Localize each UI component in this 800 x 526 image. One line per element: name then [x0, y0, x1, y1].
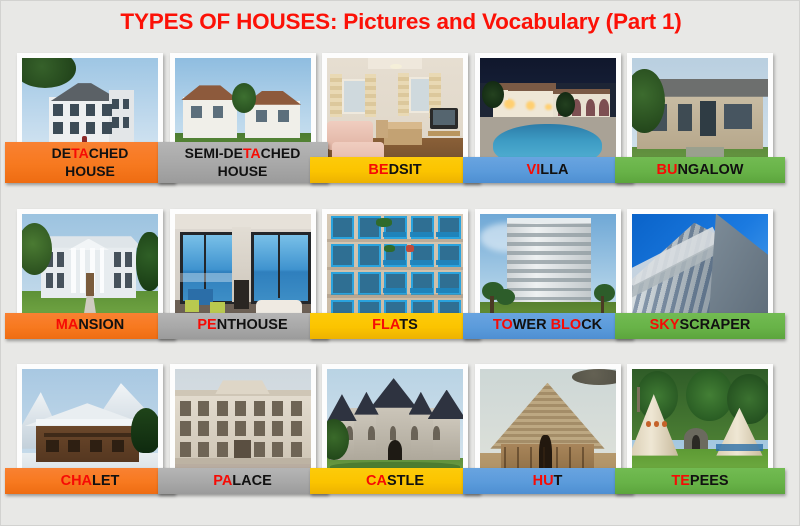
photo-bungalow [632, 58, 768, 172]
photo-villa [480, 58, 616, 172]
photo-chalet [22, 369, 158, 483]
highlight-semi-detached-house: TA [243, 145, 261, 161]
page-title: TYPES OF HOUSES: Pictures and Vocabulary… [1, 9, 800, 35]
highlight2-tower-block: BLO [551, 317, 582, 333]
highlight-flats: FLA [372, 317, 399, 333]
label-villa: VILLA [463, 157, 633, 183]
highlight-castle: CA [366, 473, 387, 489]
card-tepees: TEPEES [627, 364, 773, 488]
highlight-tepees: TE [671, 473, 690, 489]
label-tepees: TEPEES [615, 468, 785, 494]
card-tower-block: TOWER BLOCK [475, 209, 621, 333]
label-hut: HUT [463, 468, 633, 494]
label-bungalow: BUNGALOW [615, 157, 785, 183]
photo-castle [327, 369, 463, 483]
label-flats: FLATS [310, 313, 480, 339]
label-palace: PALACE [158, 468, 328, 494]
highlight-chalet: CHA [61, 473, 92, 489]
photo-tower-block [480, 214, 616, 328]
label-penthouse: PENTHOUSE [158, 313, 328, 339]
photo-hut [480, 369, 616, 483]
photo-tepees [632, 369, 768, 483]
photo-flats [327, 214, 463, 328]
card-palace: PALACE [170, 364, 316, 488]
photo-bedsit [327, 58, 463, 172]
label-bedsit: BEDSIT [310, 157, 480, 183]
label-chalet: CHALET [5, 468, 175, 494]
highlight-bedsit: BE [368, 162, 388, 178]
card-penthouse: PENTHOUSE [170, 209, 316, 333]
photo-penthouse [175, 214, 311, 328]
label-semi-detached-house: SEMI-DETACHEDHOUSE [158, 142, 328, 183]
label-detached-house: DETACHEDHOUSE [5, 142, 175, 183]
label-castle: CASTLE [310, 468, 480, 494]
house-types-grid: DETACHEDHOUSESEMI-DETACHEDHOUSEBEDSITVIL… [17, 53, 785, 519]
highlight-skyscraper: SKY [650, 317, 680, 333]
highlight-detached-house: TA [71, 145, 89, 161]
photo-mansion [22, 214, 158, 328]
highlight-mansion: MA [56, 317, 79, 333]
card-mansion: MANSION [17, 209, 163, 333]
card-villa: VILLA [475, 53, 621, 177]
card-hut: HUT [475, 364, 621, 488]
poster-page: TYPES OF HOUSES: Pictures and Vocabulary… [0, 0, 800, 526]
card-chalet: CHALET [17, 364, 163, 488]
card-skyscraper: SKYSCRAPER [627, 209, 773, 333]
card-semi-detached-house: SEMI-DETACHEDHOUSE [170, 53, 316, 177]
highlight-tower-block: TO [493, 317, 513, 333]
photo-skyscraper [632, 214, 768, 328]
label-skyscraper: SKYSCRAPER [615, 313, 785, 339]
card-bedsit: BEDSIT [322, 53, 468, 177]
highlight-hut: HU [533, 473, 554, 489]
card-detached-house: DETACHEDHOUSE [17, 53, 163, 177]
card-bungalow: BUNGALOW [627, 53, 773, 177]
label-mansion: MANSION [5, 313, 175, 339]
label-tower-block: TOWER BLOCK [463, 313, 633, 339]
highlight-bungalow: BU [657, 162, 678, 178]
highlight-palace: PA [213, 473, 232, 489]
photo-palace [175, 369, 311, 483]
card-castle: CASTLE [322, 364, 468, 488]
highlight-villa: VI [527, 162, 541, 178]
highlight-penthouse: PE [197, 317, 216, 333]
card-flats: FLATS [322, 209, 468, 333]
